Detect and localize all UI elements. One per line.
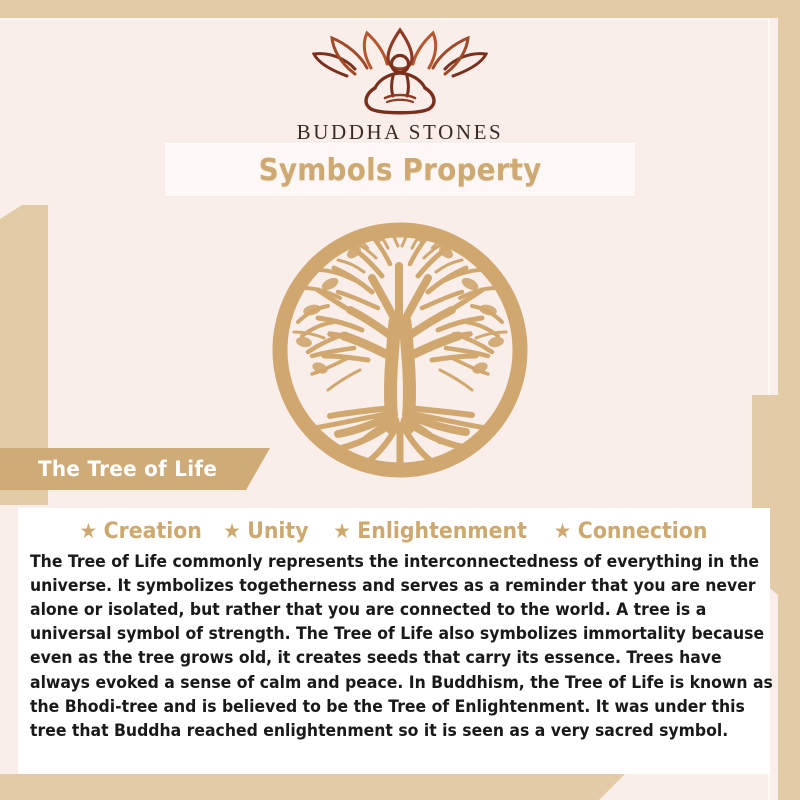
star-icon: ★ <box>79 521 97 542</box>
star-icon: ★ <box>554 521 572 542</box>
lotus-meditation-figure-icon <box>305 24 495 116</box>
symbol-description-card: ★ Creation ★ Unity ★ Enlightenment ★ Con… <box>18 508 770 774</box>
star-icon: ★ <box>223 521 241 542</box>
brand-logo: BUDDHA STONES <box>0 24 800 145</box>
keyword-label: Creation <box>103 519 201 544</box>
keyword-list: ★ Creation ★ Unity ★ Enlightenment ★ Con… <box>18 508 770 544</box>
keyword-label: Unity <box>247 519 308 544</box>
top-border-decoration <box>0 0 800 18</box>
tree-of-life-emblem <box>268 218 532 482</box>
page-title: Symbols Property <box>259 153 542 188</box>
keyword-item: ★ Unity <box>223 519 308 544</box>
keyword-item: ★ Connection <box>554 519 708 544</box>
keyword-label: Connection <box>578 519 708 544</box>
symbol-description-text: The Tree of Life commonly represents the… <box>30 550 775 743</box>
star-icon: ★ <box>333 521 351 542</box>
tree-of-life-icon <box>268 218 532 482</box>
symbol-name: The Tree of Life <box>38 457 217 481</box>
bottom-accent-band-decoration <box>0 774 625 800</box>
page-title-banner: Symbols Property <box>165 143 635 197</box>
keyword-item: ★ Creation <box>79 519 201 544</box>
symbol-property-card: BUDDHA STONES Symbols Property <box>0 0 800 800</box>
keyword-label: Enlightenment <box>357 519 527 544</box>
symbol-name-banner: The Tree of Life <box>0 448 270 490</box>
brand-name: BUDDHA STONES <box>0 120 800 145</box>
keyword-item: ★ Enlightenment <box>333 519 527 544</box>
